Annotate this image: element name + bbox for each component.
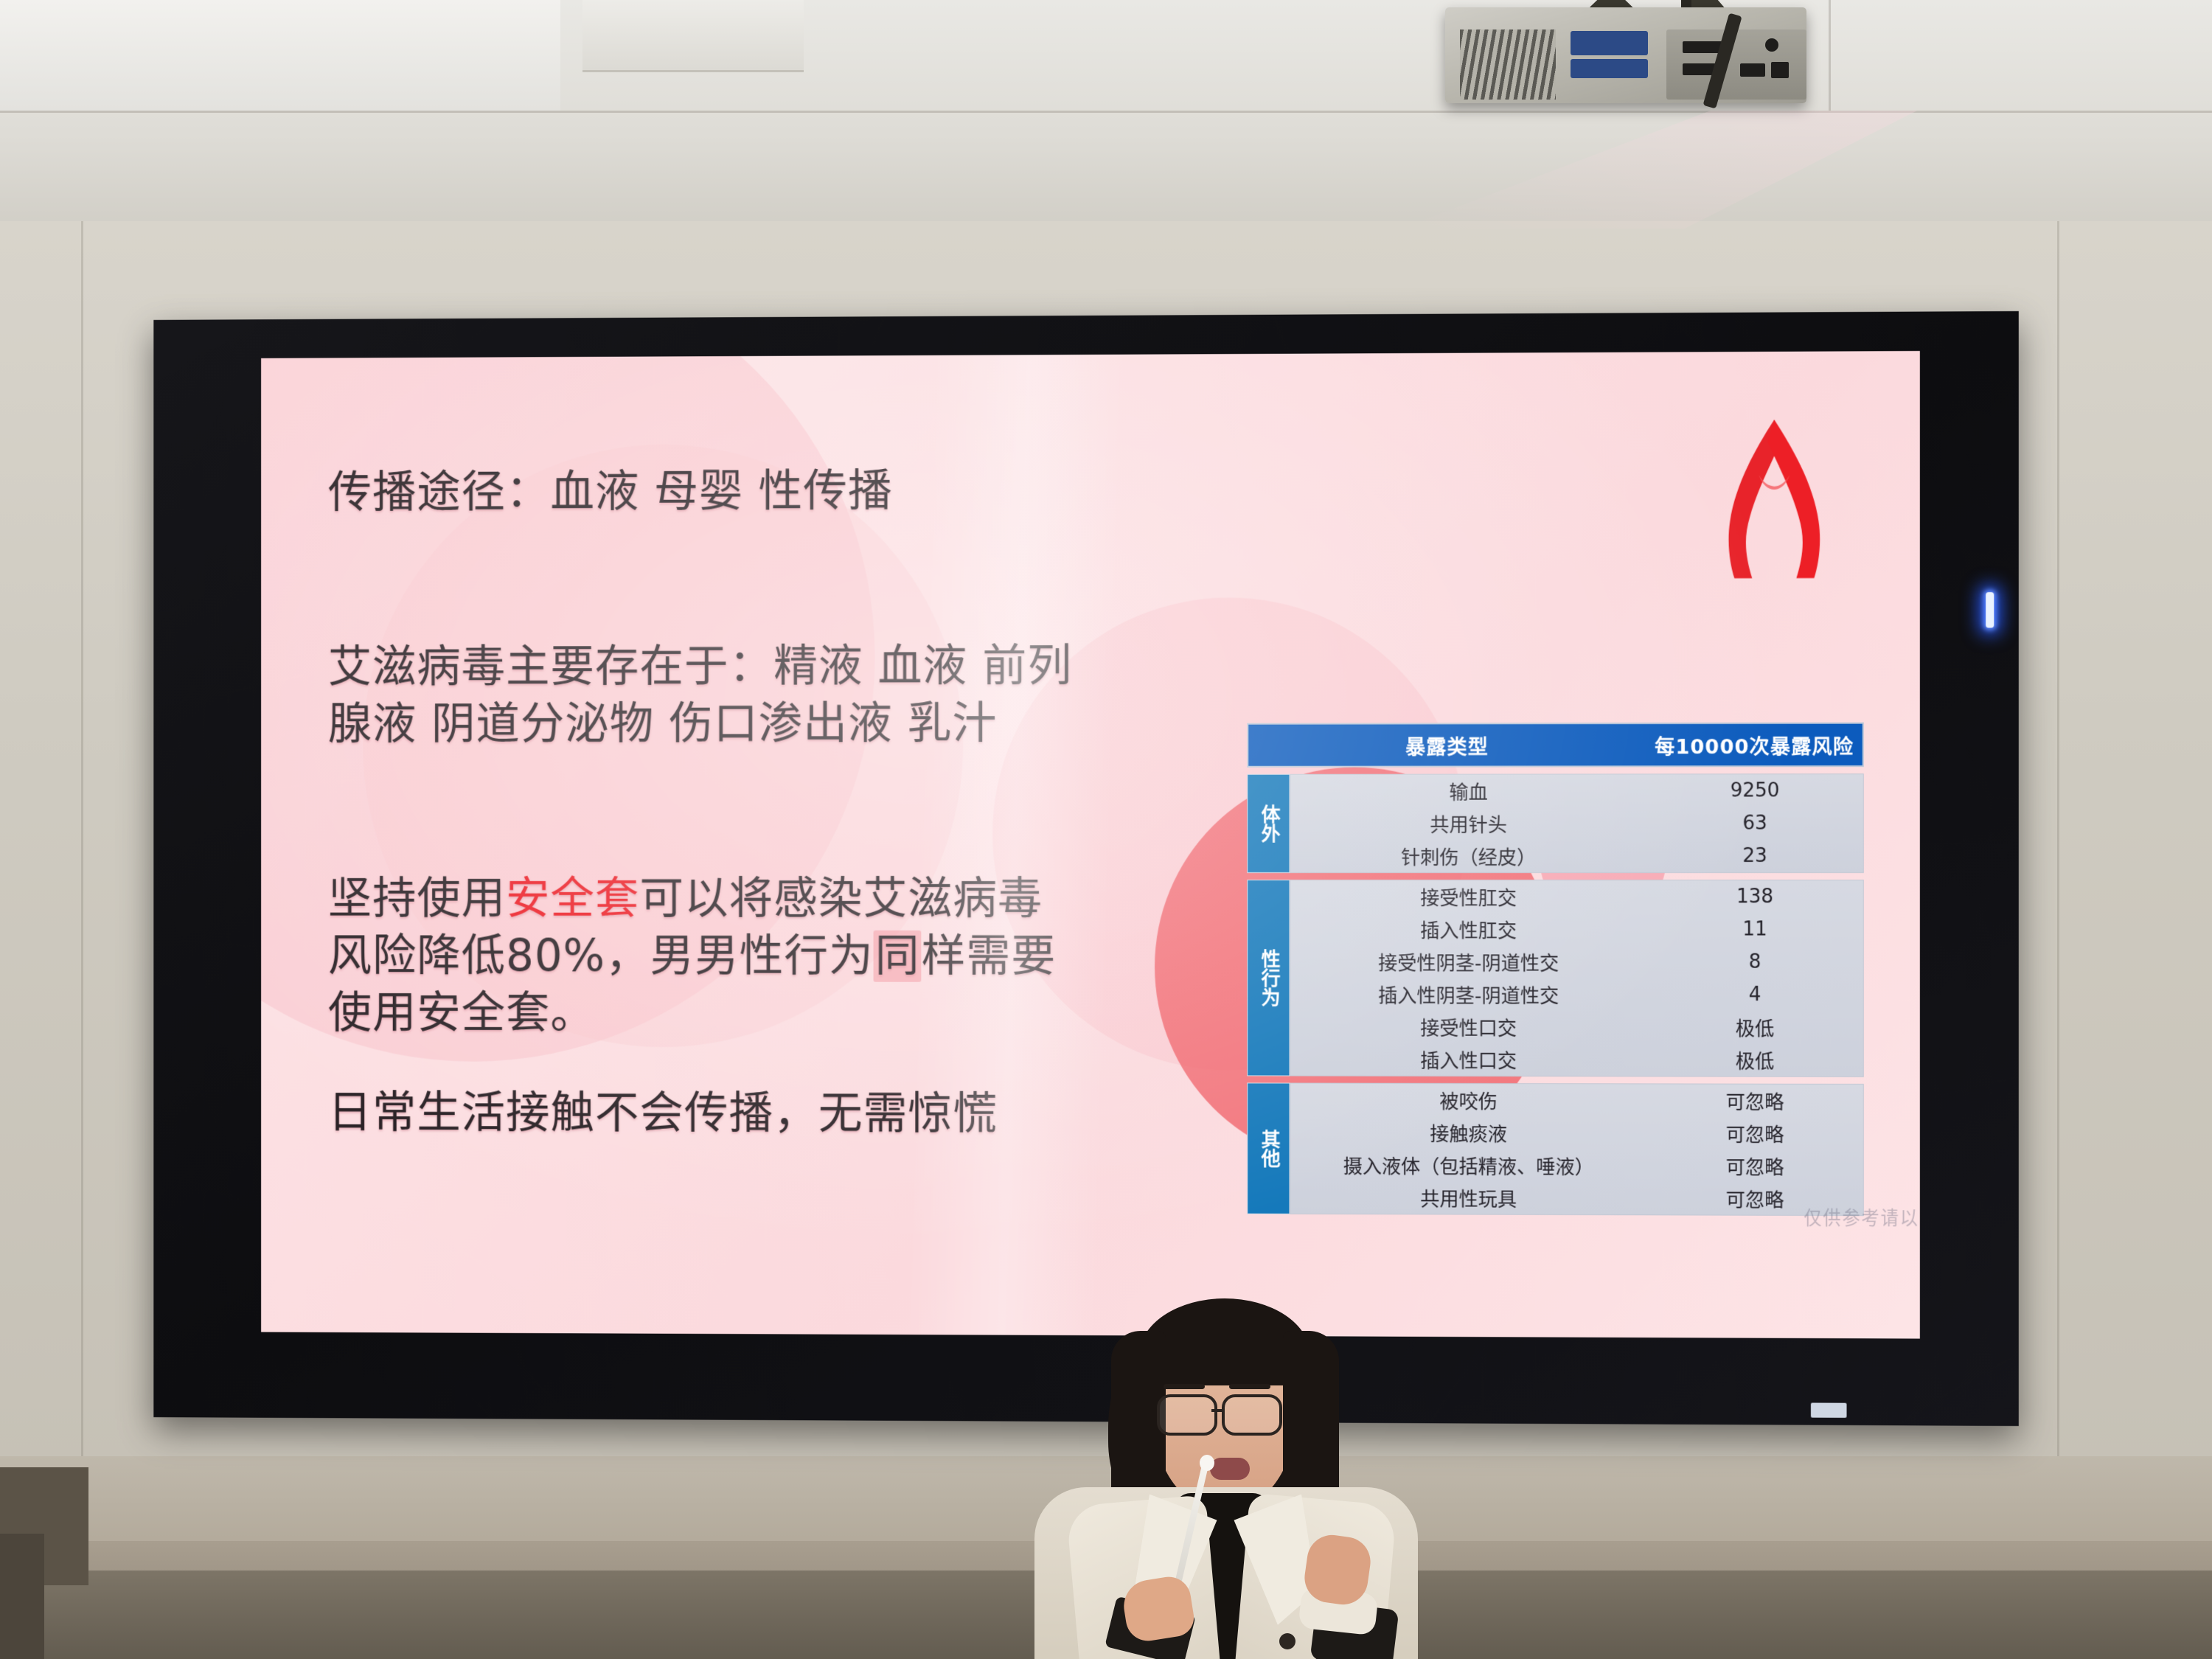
row-risk: 63 <box>1647 812 1863 834</box>
glasses-lens-left-icon <box>1157 1394 1217 1436</box>
row-risk: 11 <box>1647 918 1863 940</box>
table-header-exposure-type: 暴露类型 <box>1248 731 1646 760</box>
projector-label-badge <box>1571 31 1648 55</box>
table-row: 被咬伤可忽略 <box>1290 1084 1863 1118</box>
exposure-risk-table: 暴露类型 每10000次暴露风险 体外 输血9250 共用针头63 针刺伤（经皮… <box>1247 723 1864 1216</box>
projector-vent-icon <box>1460 29 1556 100</box>
row-type: 针刺伤（经皮） <box>1290 842 1646 869</box>
slide-paragraph-3-line-1: 坚持使用安全套可以将感染艾滋病毒 <box>328 870 1193 928</box>
table-group-rows-sexual-behavior: 接受性肛交138 插入性肛交11 接受性阴茎-阴道性交8 插入性阴茎-阴道性交4… <box>1290 880 1863 1077</box>
text-spacer-3 <box>328 1041 1193 1085</box>
projector-port-lan <box>1771 62 1789 78</box>
table-group-label-sexual-behavior: 性行为 <box>1247 880 1290 1076</box>
glasses-lens-right-icon <box>1222 1394 1282 1436</box>
table-row: 接触痰液可忽略 <box>1290 1116 1863 1150</box>
presenter-coat-button <box>1279 1633 1295 1649</box>
table-group-label-other: 其他 <box>1247 1082 1290 1214</box>
red-ribbon-icon <box>1718 411 1830 582</box>
projector-body <box>1445 7 1806 103</box>
slide-text-block: 传播途径：血液 母婴 性传播 艾滋病毒主要存在于：精液 血液 前列 腺液 阴道分… <box>328 461 1193 1143</box>
row-type: 接触痰液 <box>1290 1119 1646 1147</box>
lecture-hall-scene: 传播途径：血液 母婴 性传播 艾滋病毒主要存在于：精液 血液 前列 腺液 阴道分… <box>0 0 2212 1659</box>
slide-paragraph-2-line-1: 艾滋病毒主要存在于：精液 血液 前列 <box>328 637 1193 696</box>
table-header-risk-per-10000: 每10000次暴露风险 <box>1646 730 1863 759</box>
table-group-other: 其他 被咬伤可忽略 接触痰液可忽略 摄入液体（包括精液、唾液）可忽略 共用性玩具… <box>1247 1082 1864 1216</box>
table-row: 针刺伤（经皮）23 <box>1290 840 1863 872</box>
row-risk: 4 <box>1647 984 1863 1006</box>
table-row: 共用针头63 <box>1290 807 1863 839</box>
p3-line2-a: 风险降低80%，男男性行为 <box>328 930 874 981</box>
microphone-head-icon <box>1200 1455 1214 1471</box>
slide-watermark: 仅供参考请以实际为准 <box>1804 1203 1920 1234</box>
power-led-indicator <box>1986 592 1994 627</box>
text-spacer-2 <box>328 752 1193 870</box>
projection-screen-frame: 传播途径：血液 母婴 性传播 艾滋病毒主要存在于：精液 血液 前列 腺液 阴道分… <box>153 311 2019 1426</box>
row-type: 接受性肛交 <box>1290 883 1646 911</box>
table-row: 接受性肛交138 <box>1290 880 1863 913</box>
wall-left-shadow-2 <box>0 1534 44 1659</box>
screen-brand-logo <box>1811 1403 1847 1418</box>
row-type: 摄入液体（包括精液、唾液） <box>1290 1151 1646 1179</box>
table-group-label-waiti: 体外 <box>1247 774 1290 873</box>
ceiling-panel-left <box>0 0 560 111</box>
text-spacer-1 <box>328 519 1193 639</box>
p3-line2-boxed-char: 同 <box>874 931 922 982</box>
table-group-sexual-behavior: 性行为 接受性肛交138 插入性肛交11 接受性阴茎-阴道性交8 插入性阴茎-阴… <box>1247 880 1864 1077</box>
presenter-person <box>1029 1287 1427 1659</box>
row-risk: 可忽略 <box>1647 1119 1863 1147</box>
row-risk: 9250 <box>1647 779 1863 801</box>
projector-port-audio <box>1765 38 1778 52</box>
presentation-slide: 传播途径：血液 母婴 性传播 艾滋病毒主要存在于：精液 血液 前列 腺液 阴道分… <box>261 351 1920 1339</box>
row-risk: 极低 <box>1647 1046 1863 1074</box>
projector-port-hdmi <box>1740 63 1765 77</box>
glasses-bridge-icon <box>1211 1409 1223 1412</box>
row-type: 接受性阴茎-阴道性交 <box>1290 948 1646 976</box>
wall-seam-left <box>81 221 83 1475</box>
row-type: 接受性口交 <box>1290 1013 1646 1041</box>
table-row: 摄入液体（包括精液、唾液）可忽略 <box>1290 1149 1863 1183</box>
presenter-mouth <box>1210 1458 1250 1480</box>
table-row: 接受性口交极低 <box>1290 1010 1863 1043</box>
table-group-rows-waiti: 输血9250 共用针头63 针刺伤（经皮）23 <box>1290 773 1863 873</box>
slide-paragraph-4: 日常生活接触不会传播，无需惊慌 <box>328 1084 1193 1143</box>
p3-line2-b: 样需要 <box>922 931 1057 982</box>
p3-highlight-condom: 安全套 <box>506 873 639 925</box>
ceiling-seam-vertical <box>1829 0 1831 111</box>
row-risk: 可忽略 <box>1647 1152 1863 1180</box>
wall-seam-right <box>2057 221 2059 1475</box>
table-row: 输血9250 <box>1290 774 1863 807</box>
row-type: 被咬伤 <box>1290 1086 1646 1114</box>
row-type: 插入性阴茎-阴道性交 <box>1290 981 1646 1009</box>
slide-paragraph-3-line-2: 风险降低80%，男男性行为同样需要 <box>328 927 1193 985</box>
p3-text-a: 坚持使用 <box>328 873 506 925</box>
row-risk: 极低 <box>1647 1013 1863 1041</box>
row-type: 共用性玩具 <box>1290 1183 1646 1211</box>
ceiling-projector <box>1438 0 1814 129</box>
projector-port-panel <box>1666 29 1806 100</box>
slide-paragraph-3-line-3: 使用安全套。 <box>328 984 1193 1043</box>
ceiling-vent <box>582 0 804 72</box>
row-risk: 138 <box>1647 886 1863 908</box>
ceiling-seam <box>0 111 2212 113</box>
presenter-eyebrow-left <box>1164 1384 1205 1389</box>
table-row: 插入性口交极低 <box>1290 1043 1863 1076</box>
row-type: 插入性口交 <box>1290 1046 1646 1074</box>
row-risk: 23 <box>1647 845 1863 867</box>
table-group-waiti: 体外 输血9250 共用针头63 针刺伤（经皮）23 <box>1247 773 1864 873</box>
row-risk: 可忽略 <box>1647 1087 1863 1115</box>
table-header-row: 暴露类型 每10000次暴露风险 <box>1247 723 1864 768</box>
presenter-eyebrow-right <box>1229 1384 1270 1389</box>
table-row: 插入性阴茎-阴道性交4 <box>1290 978 1863 1011</box>
table-row: 共用性玩具可忽略 <box>1290 1181 1863 1215</box>
table-row: 插入性肛交11 <box>1290 913 1863 946</box>
row-type: 共用针头 <box>1290 810 1646 837</box>
table-row: 接受性阴茎-阴道性交8 <box>1290 945 1863 978</box>
table-group-rows-other: 被咬伤可忽略 接触痰液可忽略 摄入液体（包括精液、唾液）可忽略 共用性玩具可忽略 <box>1290 1083 1863 1217</box>
row-type: 输血 <box>1290 777 1646 804</box>
p3-text-b: 可以将感染艾滋病毒 <box>639 873 1043 925</box>
slide-paragraph-2-line-2: 腺液 阴道分泌物 伤口渗出液 乳汁 <box>328 695 1193 753</box>
slide-paragraph-1: 传播途径：血液 母婴 性传播 <box>328 461 1193 521</box>
row-risk: 8 <box>1647 951 1863 973</box>
projector-label-badge-2 <box>1571 59 1648 78</box>
row-type: 插入性肛交 <box>1290 916 1646 943</box>
